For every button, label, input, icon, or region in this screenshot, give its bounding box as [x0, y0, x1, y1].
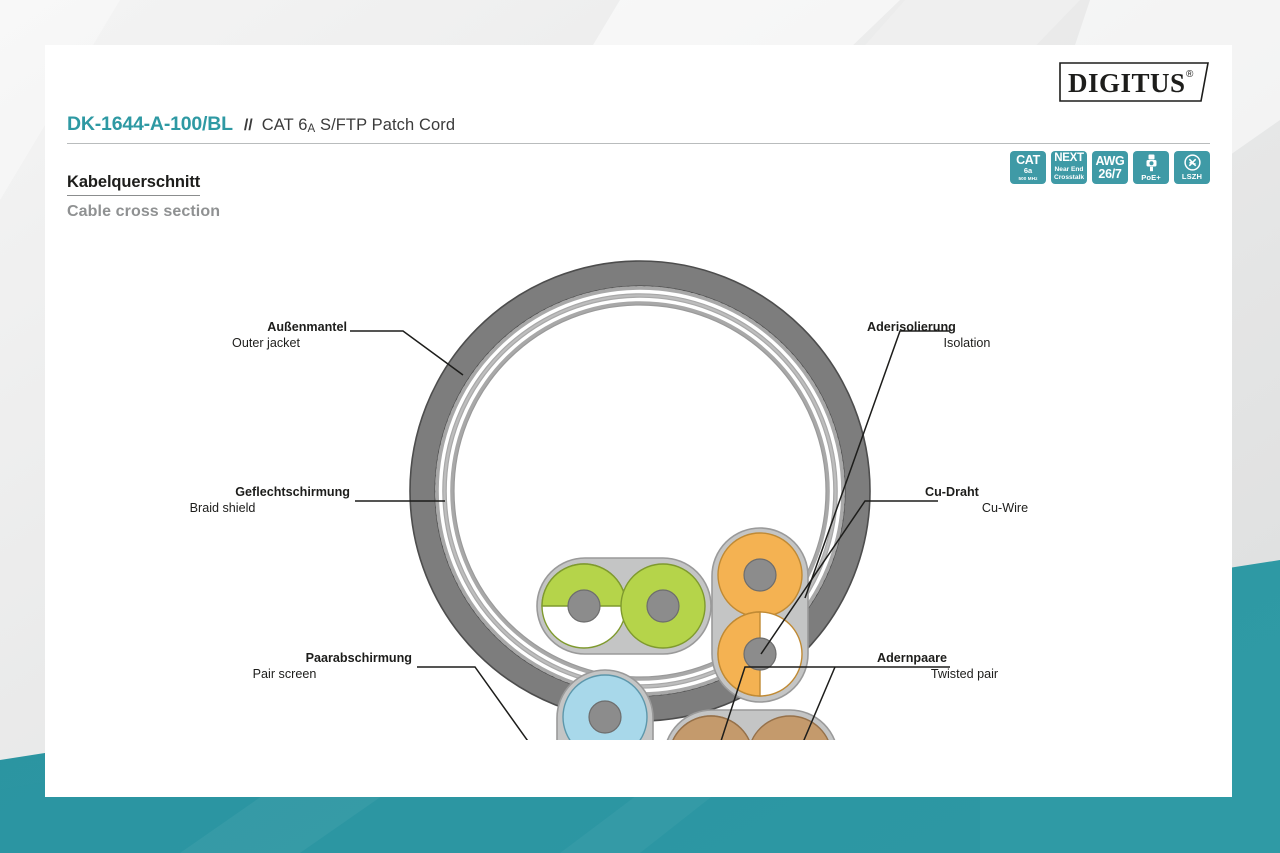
- feature-badges: CAT 6a 500 MHz NEXT Near End Crosstalk A…: [1010, 151, 1210, 184]
- cat-6a-badge-line1: CAT: [1016, 154, 1040, 167]
- callout-twisted-pair: Adernpaare Twisted pair: [877, 651, 1052, 681]
- title-separator: //: [244, 117, 253, 135]
- orange-wire-striped: [718, 612, 802, 696]
- awg-badge-line2: 26/7: [1098, 168, 1121, 181]
- poe-plug-icon: [1144, 154, 1159, 172]
- callout-outer-jacket: Außenmantel Outer jacket: [185, 320, 347, 350]
- product-sku: DK-1644-A-100/BL: [67, 113, 233, 136]
- callout-twisted-pair-de: Adernpaare: [877, 651, 1052, 665]
- product-description-prefix: CAT 6: [262, 116, 308, 134]
- next-badge-line2: Near End: [1055, 166, 1084, 174]
- lszh-no-smoke-icon: [1184, 154, 1201, 171]
- slide-card: DIGITUS ® DK-1644-A-100/BL // CAT 6A S/F…: [45, 45, 1232, 797]
- callout-cu-wire-de: Cu-Draht: [925, 485, 1085, 499]
- green-wire-striped-conductor: [568, 590, 600, 622]
- orange-wire-striped-conductor: [744, 638, 776, 670]
- lszh-badge: LSZH: [1174, 151, 1210, 184]
- section-title-de: Kabelquerschnitt: [67, 173, 200, 196]
- orange-pair: [712, 528, 808, 702]
- callout-twisted-pair-en: Twisted pair: [877, 667, 1052, 681]
- poe-plus-badge-caption: PoE+: [1141, 174, 1161, 182]
- callout-isolation: Aderisolierung Isolation: [867, 320, 1067, 350]
- callout-cu-wire-en: Cu-Wire: [925, 501, 1085, 515]
- awg-badge-line1: AWG: [1096, 155, 1125, 168]
- callout-isolation-de: Aderisolierung: [867, 320, 1067, 334]
- logo-registered-mark: ®: [1186, 69, 1194, 80]
- callout-outer-jacket-en: Outer jacket: [185, 336, 347, 350]
- callout-pair-screen-de: Paarabschirmung: [157, 651, 412, 665]
- product-description: CAT 6A S/FTP Patch Cord: [262, 116, 455, 135]
- product-description-suffix: S/FTP Patch Cord: [315, 116, 455, 134]
- callout-braid-shield-en: Braid shield: [95, 501, 350, 515]
- green-wire-solid-conductor: [647, 590, 679, 622]
- lszh-badge-caption: LSZH: [1182, 173, 1202, 181]
- poe-plus-badge: PoE+: [1133, 151, 1169, 184]
- next-badge-line3: Crosstalk: [1054, 174, 1084, 182]
- callout-cu-wire: Cu-Draht Cu-Wire: [925, 485, 1085, 515]
- callout-braid-shield: Geflechtschirmung Braid shield: [95, 485, 350, 515]
- orange-wire-solid-conductor: [744, 559, 776, 591]
- digitus-logo: DIGITUS ®: [1058, 59, 1210, 105]
- green-wire-solid: [621, 564, 705, 648]
- blue-wire-solid-conductor: [589, 701, 621, 733]
- callout-pair-screen: Paarabschirmung Pair screen: [157, 651, 412, 681]
- section-title-en: Cable cross section: [67, 203, 220, 221]
- logo-text: DIGITUS: [1068, 68, 1186, 98]
- awg-badge: AWG 26/7: [1092, 151, 1128, 184]
- callout-outer-jacket-de: Außenmantel: [185, 320, 347, 334]
- cat-6a-badge-line3: 500 MHz: [1018, 177, 1037, 182]
- callout-braid-shield-de: Geflechtschirmung: [95, 485, 350, 499]
- brown-pair: [664, 710, 838, 740]
- callout-pair-screen-en: Pair screen: [157, 667, 412, 681]
- next-badge-line1: NEXT: [1054, 153, 1083, 165]
- product-title-row: DK-1644-A-100/BL // CAT 6A S/FTP Patch C…: [67, 113, 1210, 144]
- green-pair: [537, 558, 711, 654]
- cat-6a-badge: CAT 6a 500 MHz: [1010, 151, 1046, 184]
- cat-6a-badge-line2: 6a: [1024, 167, 1032, 175]
- orange-wire-solid: [718, 533, 802, 617]
- section-heading: Kabelquerschnitt Cable cross section: [67, 173, 220, 221]
- green-wire-striped: [542, 564, 626, 648]
- callout-isolation-en: Isolation: [867, 336, 1067, 350]
- next-badge: NEXT Near End Crosstalk: [1051, 151, 1087, 184]
